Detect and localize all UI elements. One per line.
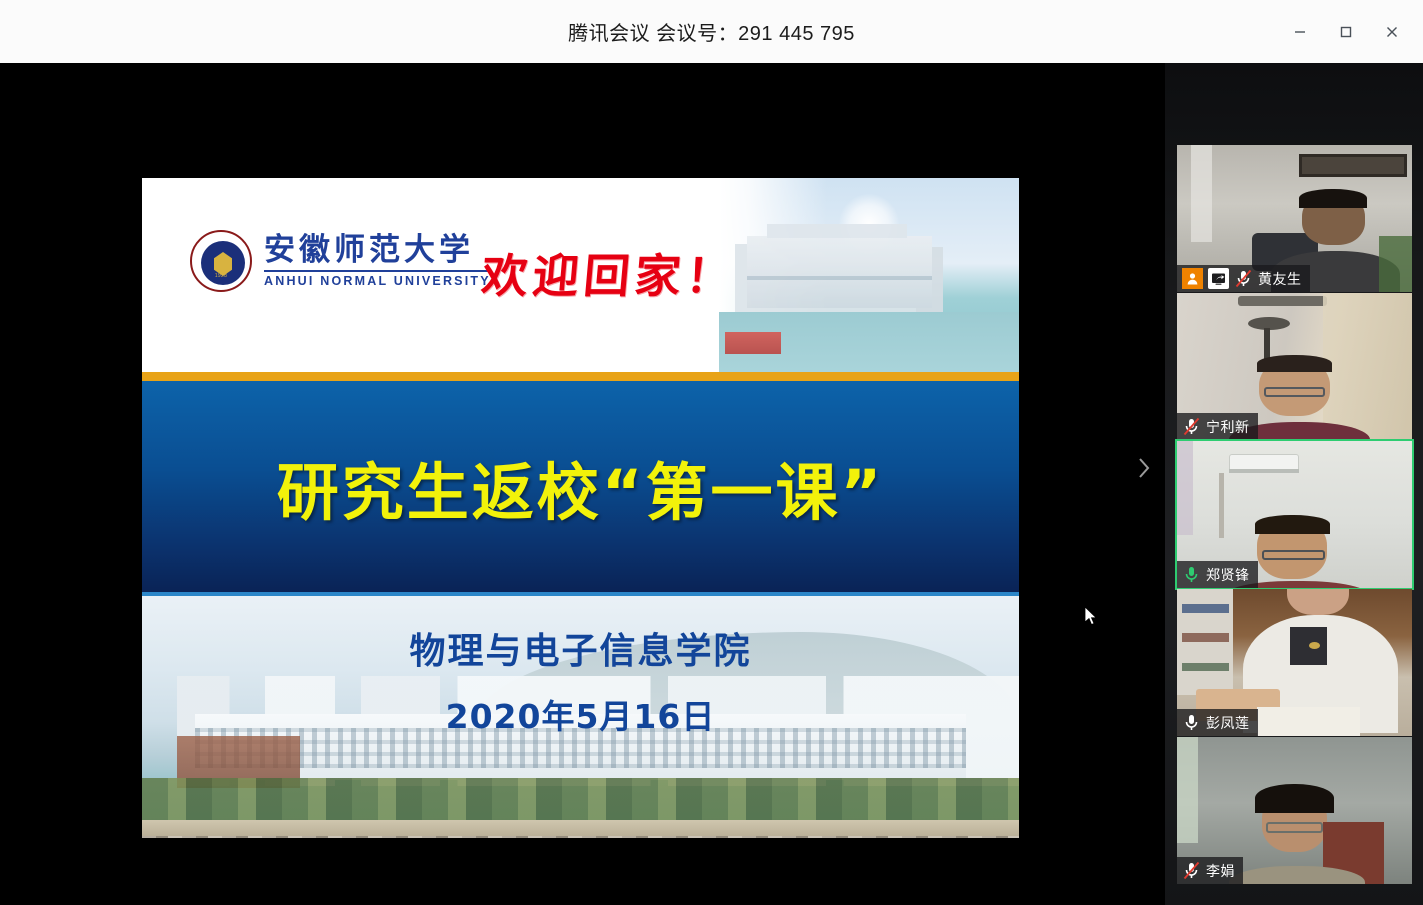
participant-tile[interactable]: 彭凤莲: [1177, 589, 1412, 736]
university-emblem-icon: 1928: [190, 230, 252, 292]
mic-on-icon: [1182, 564, 1201, 585]
title-bar: 腾讯会议 会议号：291 445 795: [0, 0, 1423, 63]
slide-date: 2020年5月16日: [142, 690, 1019, 738]
participant-name: 郑贤锋: [1206, 565, 1250, 585]
participant-name: 彭凤莲: [1206, 713, 1250, 733]
participant-tile[interactable]: 郑贤锋: [1177, 441, 1412, 588]
mic-on-icon: [1182, 712, 1201, 733]
host-badge-icon: [1182, 268, 1203, 289]
mouse-cursor-icon: [1085, 607, 1099, 627]
logo-divider: [264, 270, 491, 272]
participant-name: 宁利新: [1206, 417, 1250, 437]
participant-tile[interactable]: 黄友生: [1177, 145, 1412, 292]
minimize-button[interactable]: [1277, 0, 1323, 63]
slide-title-band: 研究生返校“第一课”: [142, 381, 1019, 592]
slide-footer-photo: 物理与电子信息学院 2020年5月16日: [142, 596, 1019, 838]
meeting-title: 腾讯会议 会议号：291 445 795: [568, 17, 855, 46]
rocky-shore-shape: [142, 836, 1019, 838]
collapse-panel-chevron-right-icon[interactable]: [1131, 444, 1157, 492]
mic-muted-icon: [1182, 416, 1201, 437]
red-railing-shape: [725, 332, 781, 354]
participant-tile[interactable]: 李娟: [1177, 737, 1412, 884]
participant-info-bar: 李娟: [1177, 857, 1243, 884]
window-controls: [1277, 0, 1423, 63]
participant-info-bar: 郑贤锋: [1177, 561, 1258, 588]
participant-video-panel[interactable]: 黄友生宁利新郑贤锋彭凤莲李娟: [1165, 63, 1423, 905]
participant-info-bar: 黄友生: [1177, 265, 1310, 292]
tree-line-shape: [142, 778, 1019, 826]
welcome-banner-text: 欢迎回家！: [479, 240, 740, 306]
mic-muted-icon: [1182, 860, 1201, 881]
participant-name: 黄友生: [1258, 269, 1302, 289]
gold-divider-bar: [142, 372, 1019, 381]
presentation-slide: 1928 安徽师范大学 ANHUI NORMAL UNIVERSITY 欢迎回家…: [142, 178, 1019, 838]
shared-screen-stage[interactable]: 1928 安徽师范大学 ANHUI NORMAL UNIVERSITY 欢迎回家…: [0, 63, 1165, 905]
slide-main-title: 研究生返校“第一课”: [277, 442, 885, 532]
university-name-cn: 安徽师范大学: [264, 234, 491, 267]
close-button[interactable]: [1369, 0, 1415, 63]
building-shape: [747, 236, 932, 308]
screen-share-icon: [1208, 268, 1229, 289]
university-logo: 1928 安徽师范大学 ANHUI NORMAL UNIVERSITY: [190, 230, 491, 292]
campus-building-photo: [719, 178, 1019, 372]
emblem-year: 1928: [192, 273, 250, 279]
mic-muted-icon: [1234, 268, 1253, 289]
participant-name: 李娟: [1206, 861, 1235, 881]
participant-info-bar: 彭凤莲: [1177, 709, 1258, 736]
participant-tile[interactable]: 宁利新: [1177, 293, 1412, 440]
slide-subtitle: 物理与电子信息学院: [142, 622, 1019, 674]
slide-header: 1928 安徽师范大学 ANHUI NORMAL UNIVERSITY 欢迎回家…: [142, 178, 1019, 372]
maximize-button[interactable]: [1323, 0, 1369, 63]
participant-info-bar: 宁利新: [1177, 413, 1258, 440]
university-name-en: ANHUI NORMAL UNIVERSITY: [264, 274, 491, 288]
